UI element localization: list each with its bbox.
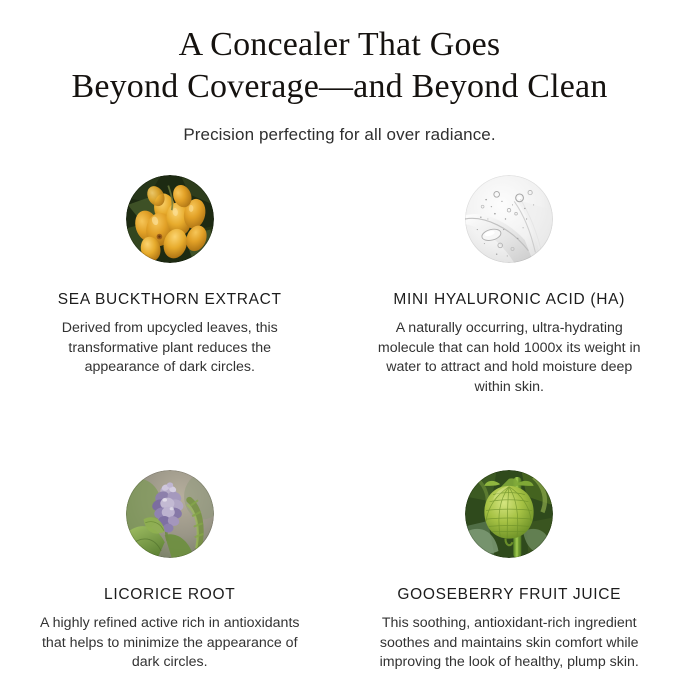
ingredient-card-gooseberry: GOOSEBERRY FRUIT JUICE This soothing, an… xyxy=(340,460,679,673)
ingredient-description: A naturally occurring, ultra-hydrating m… xyxy=(368,319,652,397)
ingredient-card-sea-buckthorn: SEA BUCKTHORN EXTRACT Derived from upcyc… xyxy=(0,165,340,397)
page-title-line-1: A Concealer That Goes xyxy=(40,24,639,66)
ingredient-description: Derived from upcycled leaves, this trans… xyxy=(28,319,312,378)
licorice-root-flower-photo xyxy=(126,470,214,558)
ingredients-grid: SEA BUCKTHORN EXTRACT Derived from upcyc… xyxy=(0,165,679,673)
page-subtitle: Precision perfecting for all over radian… xyxy=(0,124,679,146)
ingredient-description: A highly refined active rich in antioxid… xyxy=(28,614,312,673)
ingredient-description: This soothing, antioxidant-rich ingredie… xyxy=(368,614,652,673)
header: A Concealer That Goes Beyond Coverage—an… xyxy=(0,0,679,146)
ingredient-card-licorice-root: LICORICE ROOT A highly refined active ri… xyxy=(0,460,340,673)
ingredient-card-hyaluronic-acid: MINI HYALURONIC ACID (HA) A naturally oc… xyxy=(340,165,679,397)
sea-buckthorn-berries-photo xyxy=(126,175,214,263)
gooseberry-fruit-photo xyxy=(465,470,553,558)
hyaluronic-acid-gel-photo xyxy=(465,175,553,263)
product-ingredients-infographic: A Concealer That Goes Beyond Coverage—an… xyxy=(0,0,679,679)
ingredients-row-top: SEA BUCKTHORN EXTRACT Derived from upcyc… xyxy=(0,165,679,397)
ingredient-title: SEA BUCKTHORN EXTRACT xyxy=(28,290,312,310)
ingredients-row-bottom: LICORICE ROOT A highly refined active ri… xyxy=(0,460,679,673)
page-title-line-2: Beyond Coverage—and Beyond Clean xyxy=(40,66,639,108)
ingredient-title: GOOSEBERRY FRUIT JUICE xyxy=(368,585,652,605)
page-title: A Concealer That Goes Beyond Coverage—an… xyxy=(0,24,679,108)
ingredient-title: MINI HYALURONIC ACID (HA) xyxy=(368,290,652,310)
ingredient-title: LICORICE ROOT xyxy=(28,585,312,605)
